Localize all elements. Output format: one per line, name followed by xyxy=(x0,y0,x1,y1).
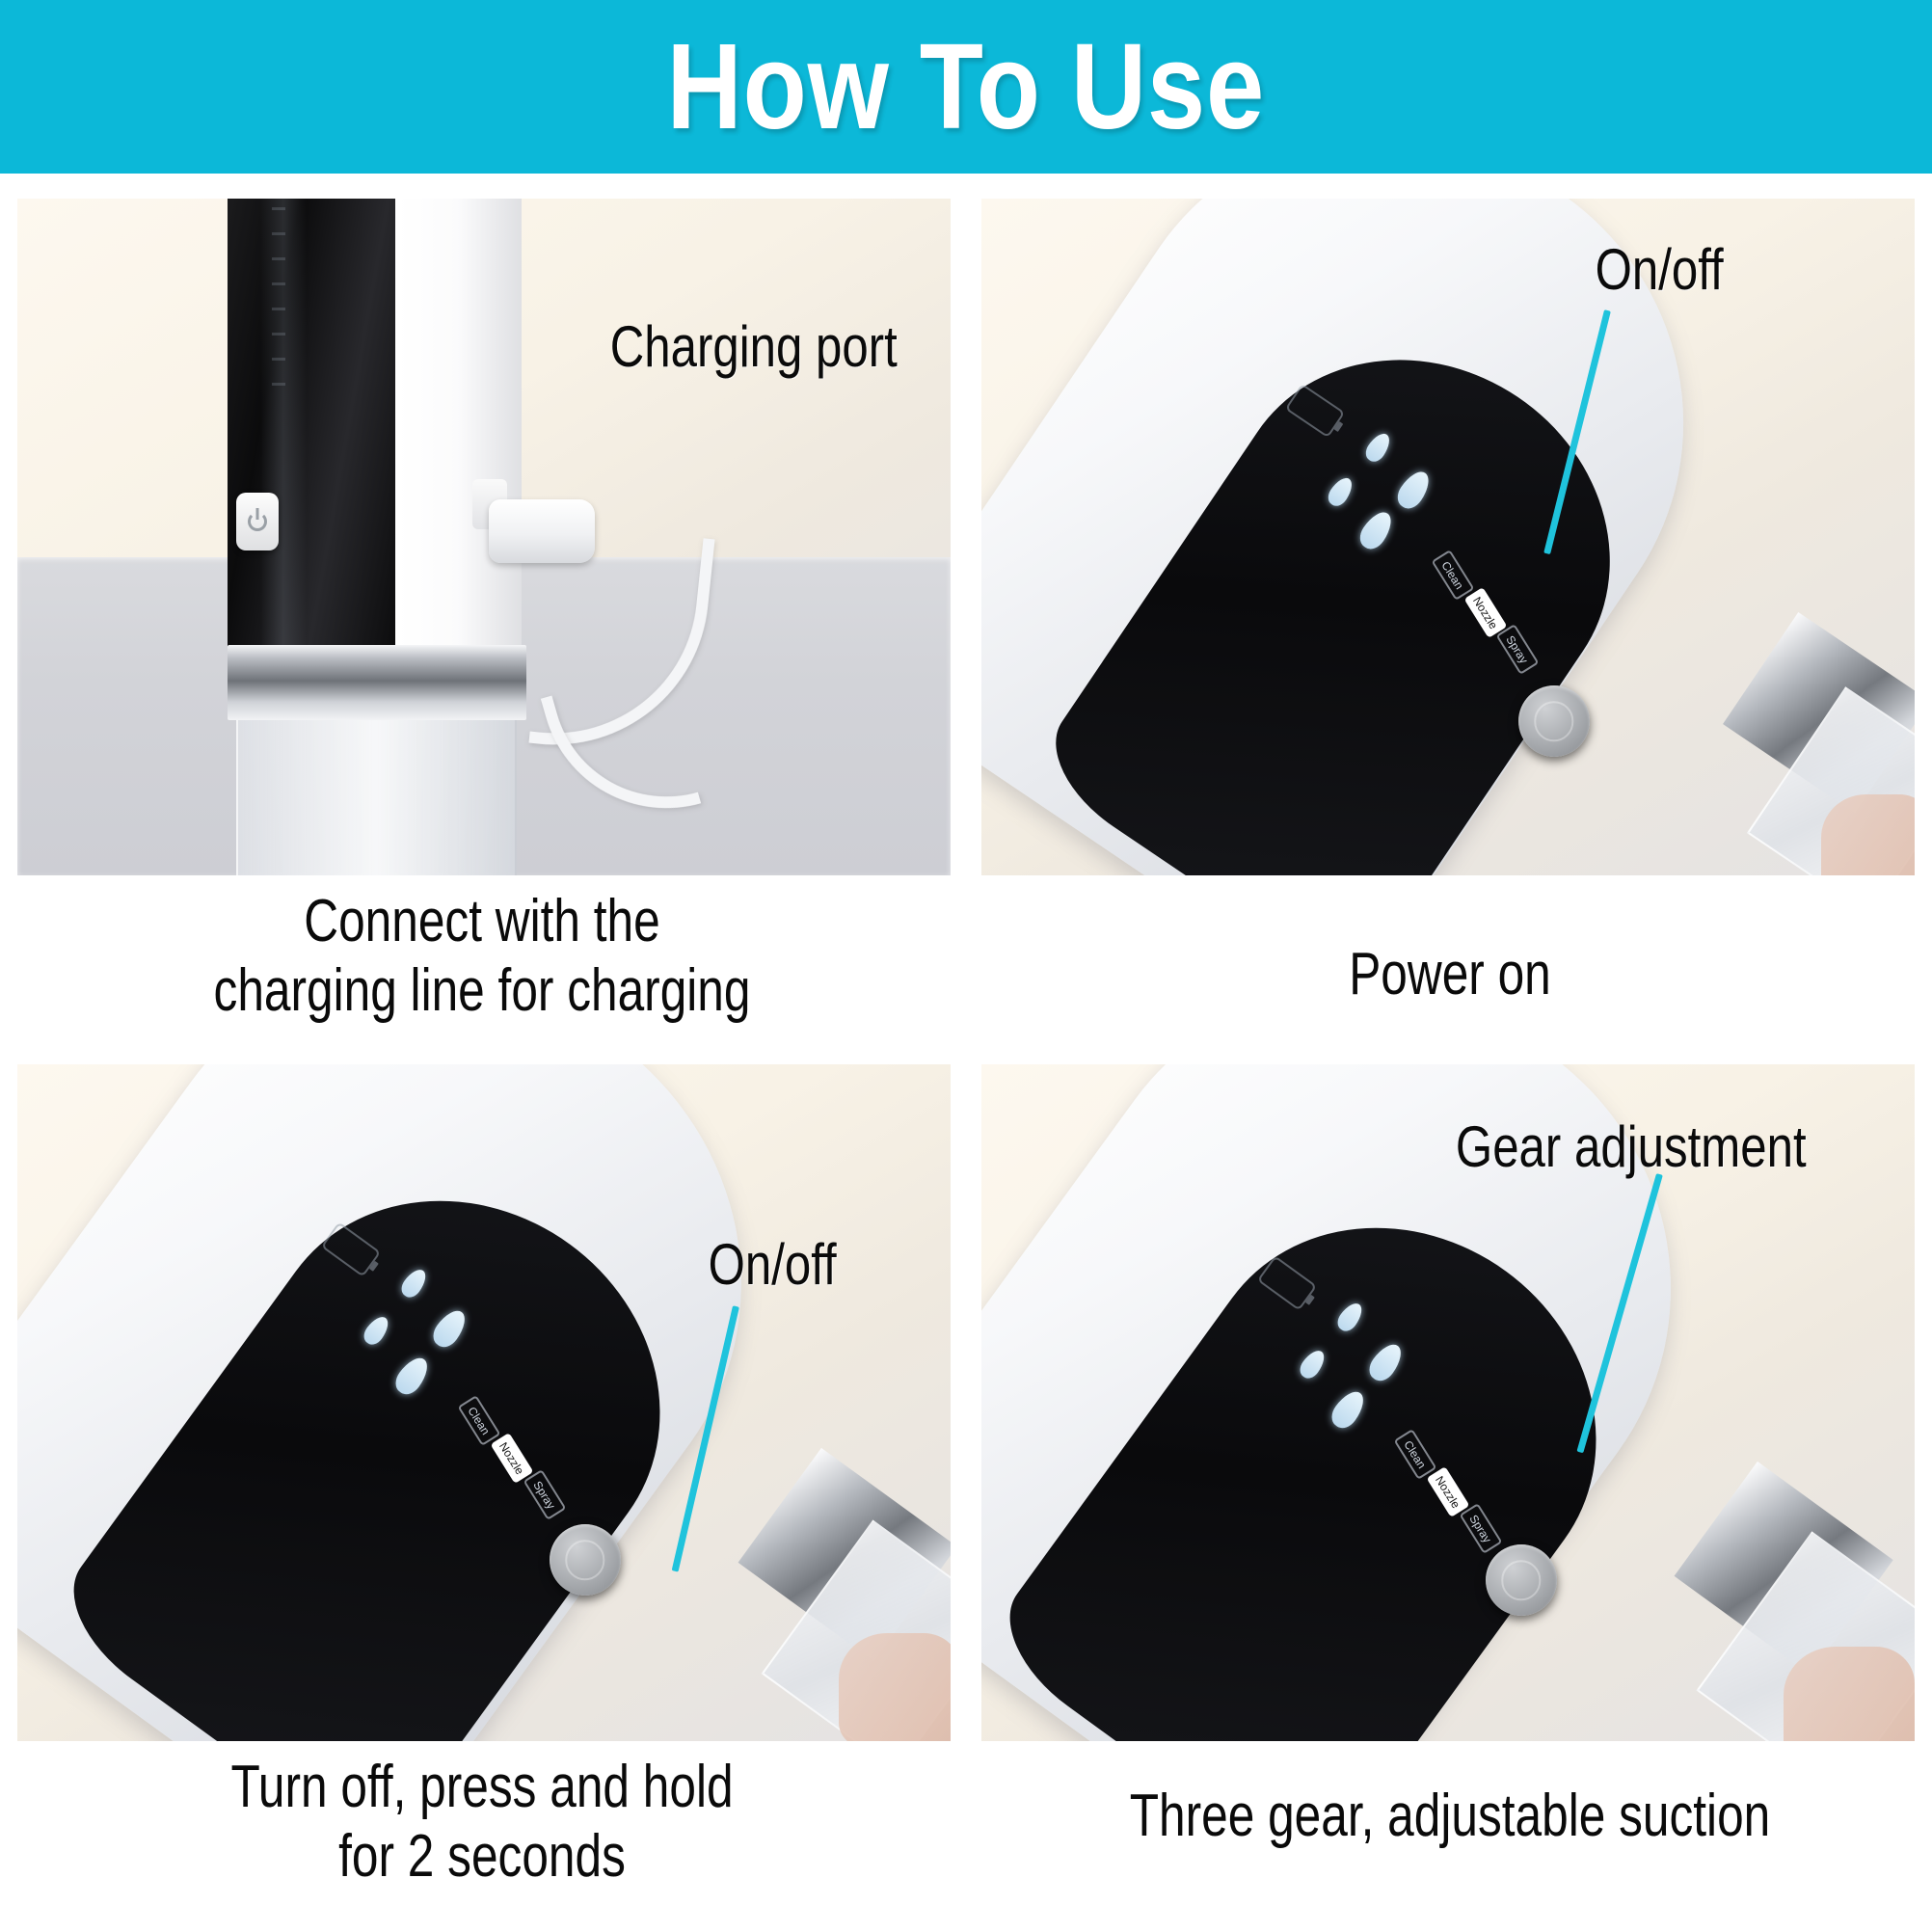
gloss-highlight xyxy=(260,199,307,658)
callout-label-on-off-step3: On/off xyxy=(709,1236,837,1294)
chrome-ring xyxy=(228,645,526,719)
step-1-caption: Connect with the charging line for charg… xyxy=(96,887,868,1026)
how-to-use-infographic: How To Use Charging port Connect with th… xyxy=(0,0,1932,1932)
skin-backdrop xyxy=(1821,794,1915,875)
step-3-photo: Clean Nozzle Spray xyxy=(17,1064,951,1741)
step-2-photo: Clean Nozzle Spray xyxy=(981,199,1915,875)
turn-off-photo: Clean Nozzle Spray xyxy=(17,1064,951,1741)
callout-label-gear-adjustment: Gear adjustment xyxy=(1456,1118,1807,1176)
power-icon xyxy=(248,512,267,531)
power-icon xyxy=(1534,702,1573,741)
header-banner: How To Use xyxy=(0,0,1932,174)
gear-icon xyxy=(1501,1561,1541,1600)
power-button[interactable] xyxy=(236,493,279,550)
callout-label-on-off-step2: On/off xyxy=(1596,241,1724,299)
callout-label-charging-port: Charging port xyxy=(610,318,898,376)
clear-chamber xyxy=(236,716,516,875)
gear-adjust-button[interactable] xyxy=(1486,1544,1557,1616)
power-icon xyxy=(565,1541,604,1580)
device-black-body xyxy=(228,199,395,685)
charging-photo xyxy=(17,199,951,875)
step-1-photo xyxy=(17,199,951,875)
step-2-caption: Power on xyxy=(1064,940,1836,1009)
page-title: How To Use xyxy=(667,26,1266,148)
power-on-photo: Clean Nozzle Spray xyxy=(981,199,1915,875)
skin-backdrop xyxy=(839,1633,951,1741)
step-4-caption: Three gear, adjustable suction xyxy=(1064,1782,1836,1851)
power-button[interactable] xyxy=(1518,685,1590,757)
skin-backdrop xyxy=(1784,1647,1915,1741)
power-button[interactable] xyxy=(550,1524,621,1596)
step-3-caption: Turn off, press and hold for 2 seconds xyxy=(96,1753,868,1892)
